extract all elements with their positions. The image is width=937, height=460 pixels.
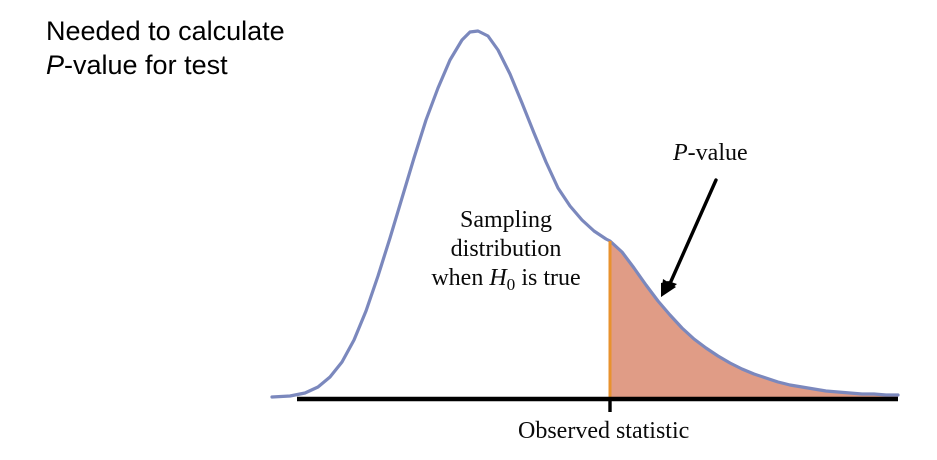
pvalue-emphasis: P (673, 140, 688, 166)
distribution-label: Samplingdistributionwhen H0 is true (398, 206, 614, 299)
pvalue-arrow (661, 180, 716, 297)
distribution-label-line-1: Sampling (460, 207, 552, 233)
pvalue-label: P-value (673, 140, 748, 167)
distribution-label-line-3-post: is true (515, 265, 580, 291)
distribution-label-line-2: distribution (451, 236, 562, 262)
distribution-label-line-3-pre: when (431, 265, 489, 291)
null-hypothesis-symbol: H (489, 265, 506, 291)
observed-statistic-label: Observed statistic (518, 418, 689, 445)
pvalue-label-rest: -value (688, 140, 748, 166)
figure-root: Needed to calculateP-value for test Samp… (0, 0, 937, 460)
